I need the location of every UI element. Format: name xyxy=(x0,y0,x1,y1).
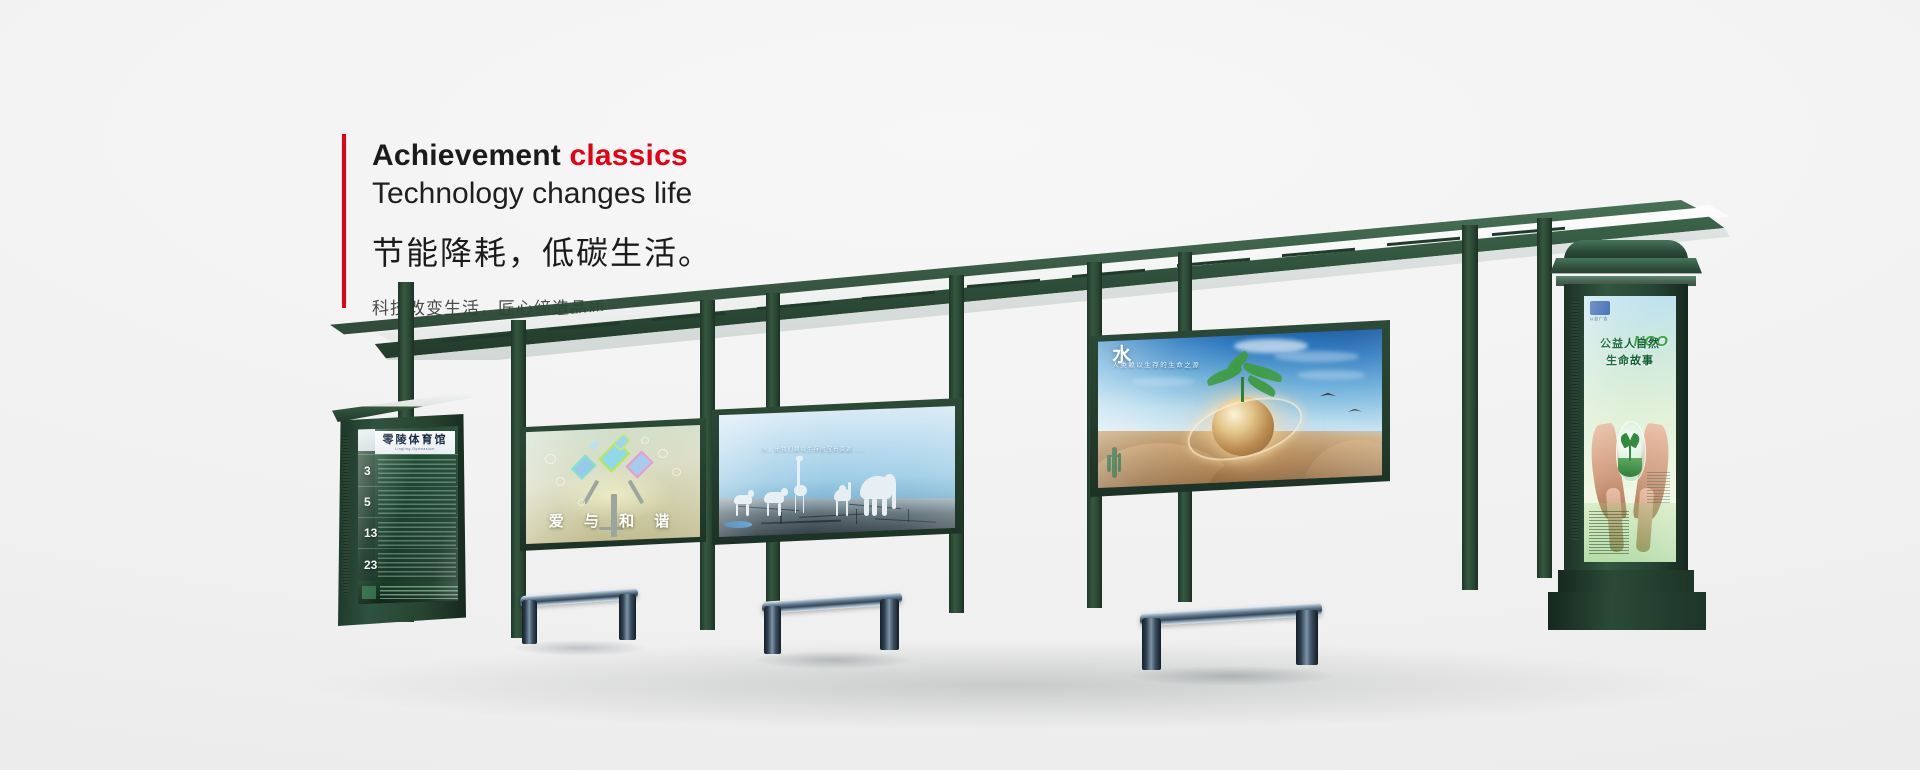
table-row: 13 xyxy=(358,517,458,549)
bubble xyxy=(545,454,556,464)
route-number: 5 xyxy=(364,495,371,509)
route-number: 23 xyxy=(364,558,377,572)
ngo-logo-icon xyxy=(1590,301,1610,314)
poster-ngo-body-text-right xyxy=(1647,472,1671,504)
table-row: 5 xyxy=(358,486,458,518)
poster-water-art: 水 人类赖以生存的生命之源 xyxy=(1098,329,1382,488)
bench-3 xyxy=(1140,608,1322,680)
schedule-board-unit: 零陵体育馆 Lingling Gymnasium 3 5 xyxy=(338,392,466,630)
bench-leg-left xyxy=(1142,618,1161,670)
heart-small-icon xyxy=(590,439,600,449)
schedule-display[interactable]: 零陵体育馆 Lingling Gymnasium 3 5 xyxy=(358,426,458,604)
poster-ngo-art: 公益广告 NGO 公益人自然生命故事 xyxy=(1584,296,1676,562)
poster-water-subtitle: 人类赖以生存的生命之源 xyxy=(1112,359,1200,369)
bench-leg-right xyxy=(880,599,899,650)
lightbox-water: 水 人类赖以生存的生命之源 xyxy=(1090,320,1390,497)
poster-love-harmony-display[interactable]: 爱 与 和 谐 xyxy=(526,425,700,544)
route-stop-list xyxy=(378,553,456,577)
bench-2 xyxy=(762,597,902,663)
station-name-en: Lingling Gymnasium xyxy=(395,447,435,451)
poster-animals-art: 水，是我们赖以生存的宝贵资源…… xyxy=(719,406,955,537)
route-stop-list xyxy=(378,490,456,514)
bench-seat xyxy=(1140,603,1322,627)
poster-ngo-title: 公益人自然生命故事 xyxy=(1588,336,1673,370)
poster-love-harmony-art: 爱 与 和 谐 xyxy=(526,425,700,544)
cloud xyxy=(1297,370,1365,380)
zebra-figure xyxy=(761,487,789,516)
scene-stage: Achievement classics Technology changes … xyxy=(0,0,1920,770)
shelter-post-9 xyxy=(1537,218,1552,578)
bench-leg-left xyxy=(764,606,781,654)
bench-1 xyxy=(520,592,638,652)
bubble xyxy=(578,499,585,506)
route-stop-list xyxy=(378,459,456,483)
bubble xyxy=(658,449,668,458)
bubble xyxy=(641,437,649,444)
heart-center-icon xyxy=(600,443,627,470)
route-stop-list xyxy=(378,522,456,546)
elephant-figure xyxy=(856,474,898,516)
bubble xyxy=(672,468,681,476)
poster-love-harmony-caption: 爱 与 和 谐 xyxy=(526,510,700,531)
lightbox-animals: 水，是我们赖以生存的宝贵资源…… xyxy=(712,398,962,545)
tower-plinth-lower xyxy=(1548,592,1706,630)
lightbox-love-harmony: 爱 与 和 谐 xyxy=(520,418,706,551)
poster-water-display[interactable]: 水 人类赖以生存的生命之源 xyxy=(1098,329,1382,488)
ngo-logo-text: 公益广告 xyxy=(1590,316,1608,322)
poster-ngo-body-text-left xyxy=(1589,511,1629,554)
cabinet-vent xyxy=(343,436,349,594)
route-number: 3 xyxy=(364,464,371,478)
horse-figure xyxy=(731,490,757,516)
sand-dune xyxy=(1302,440,1382,488)
display-tower: 公益广告 NGO 公益人自然生命故事 xyxy=(1560,240,1692,640)
bench-leg-right xyxy=(1296,610,1318,665)
table-row: 3 xyxy=(358,454,458,486)
station-name-plate: 零陵体育馆 Lingling Gymnasium xyxy=(375,431,455,454)
poster-ngo-title-line1: 公益人自然 xyxy=(1600,338,1660,350)
station-name-cn: 零陵体育馆 xyxy=(383,435,448,446)
schedule-face: 零陵体育馆 Lingling Gymnasium 3 5 xyxy=(358,426,458,604)
bus-stop-shelter: 零陵体育馆 Lingling Gymnasium 3 5 xyxy=(0,0,1920,770)
table-row: 23 xyxy=(358,548,458,580)
ground-shadow xyxy=(300,640,1720,730)
roof-rafters xyxy=(330,200,1730,370)
bench-leg-left xyxy=(522,600,537,644)
water-puddle xyxy=(724,521,752,528)
bulb-soil xyxy=(1618,458,1642,477)
bulb-sprout-stem xyxy=(1629,440,1630,461)
cactus-icon xyxy=(1107,455,1119,457)
shelter-post-8 xyxy=(1462,225,1478,590)
bench-leg-right xyxy=(619,594,636,640)
camel-figure xyxy=(830,482,856,516)
poster-ngo-display[interactable]: 公益广告 NGO 公益人自然生命故事 xyxy=(1584,296,1676,562)
route-number: 13 xyxy=(364,526,377,540)
bubble xyxy=(556,477,565,486)
route-rows: 3 5 13 23 xyxy=(358,454,458,579)
schedule-footer-tag xyxy=(362,586,376,599)
tower-vent xyxy=(1571,300,1578,540)
sprout-stem xyxy=(1241,377,1244,402)
giraffe-figure xyxy=(790,458,811,513)
schedule-footer-slogan xyxy=(380,586,458,600)
cactus-icon xyxy=(1112,447,1117,479)
schedule-footer xyxy=(358,581,458,604)
cactus-icon xyxy=(1107,456,1111,472)
poster-animals-display[interactable]: 水，是我们赖以生存的宝贵资源…… xyxy=(719,406,955,537)
poster-animals-caption: 水，是我们赖以生存的宝贵资源…… xyxy=(761,445,865,453)
poster-ngo-title-line2: 生命故事 xyxy=(1606,355,1654,367)
cloud xyxy=(1132,377,1194,387)
